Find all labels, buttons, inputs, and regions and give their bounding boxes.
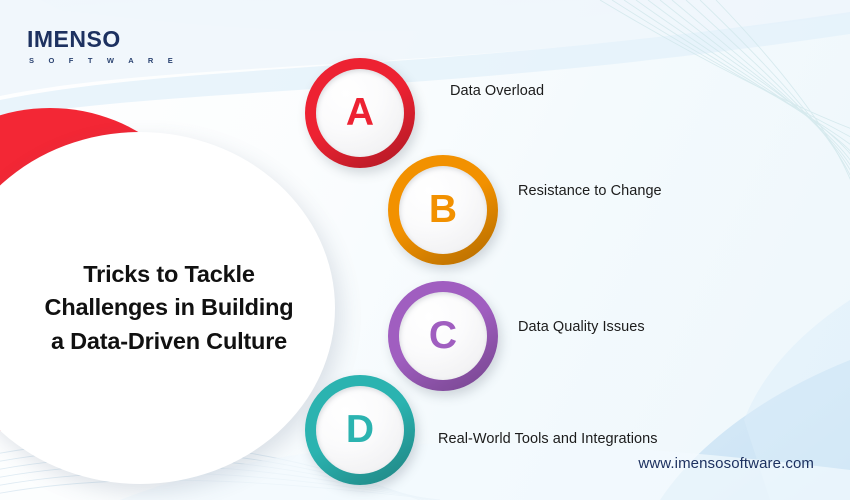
logo-wordmark: IMENSO	[27, 28, 179, 51]
item-label-d: Real-World Tools and Integrations	[438, 431, 658, 447]
website-url[interactable]: www.imensosoftware.com	[638, 455, 814, 472]
badge-a[interactable]: A	[305, 58, 415, 168]
badge-b-inner: B	[399, 166, 487, 254]
item-label-a: Data Overload	[450, 83, 544, 99]
brand-logo: IMENSO S O F T W A R E	[27, 28, 179, 65]
badge-c[interactable]: C	[388, 281, 498, 391]
badge-b[interactable]: B	[388, 155, 498, 265]
badge-b-letter: B	[429, 190, 457, 229]
page-title-line-1: Tricks to Tackle	[29, 258, 309, 291]
page-title: Tricks to Tackle Challenges in Building …	[29, 258, 309, 358]
badge-d-letter: D	[346, 410, 374, 449]
badge-d[interactable]: D	[305, 375, 415, 485]
page-title-line-2: Challenges in Building	[29, 291, 309, 324]
badge-a-inner: A	[316, 69, 404, 157]
badge-c-inner: C	[399, 292, 487, 380]
badge-c-letter: C	[429, 316, 457, 355]
item-label-b: Resistance to Change	[518, 183, 662, 199]
badge-a-letter: A	[346, 93, 374, 132]
infographic-canvas: IMENSO S O F T W A R E Tricks to Tackle …	[0, 0, 850, 500]
page-title-line-3: a Data-Driven Culture	[29, 325, 309, 358]
item-label-c: Data Quality Issues	[518, 319, 645, 335]
badge-d-inner: D	[316, 386, 404, 474]
logo-tagline: S O F T W A R E	[29, 56, 179, 65]
